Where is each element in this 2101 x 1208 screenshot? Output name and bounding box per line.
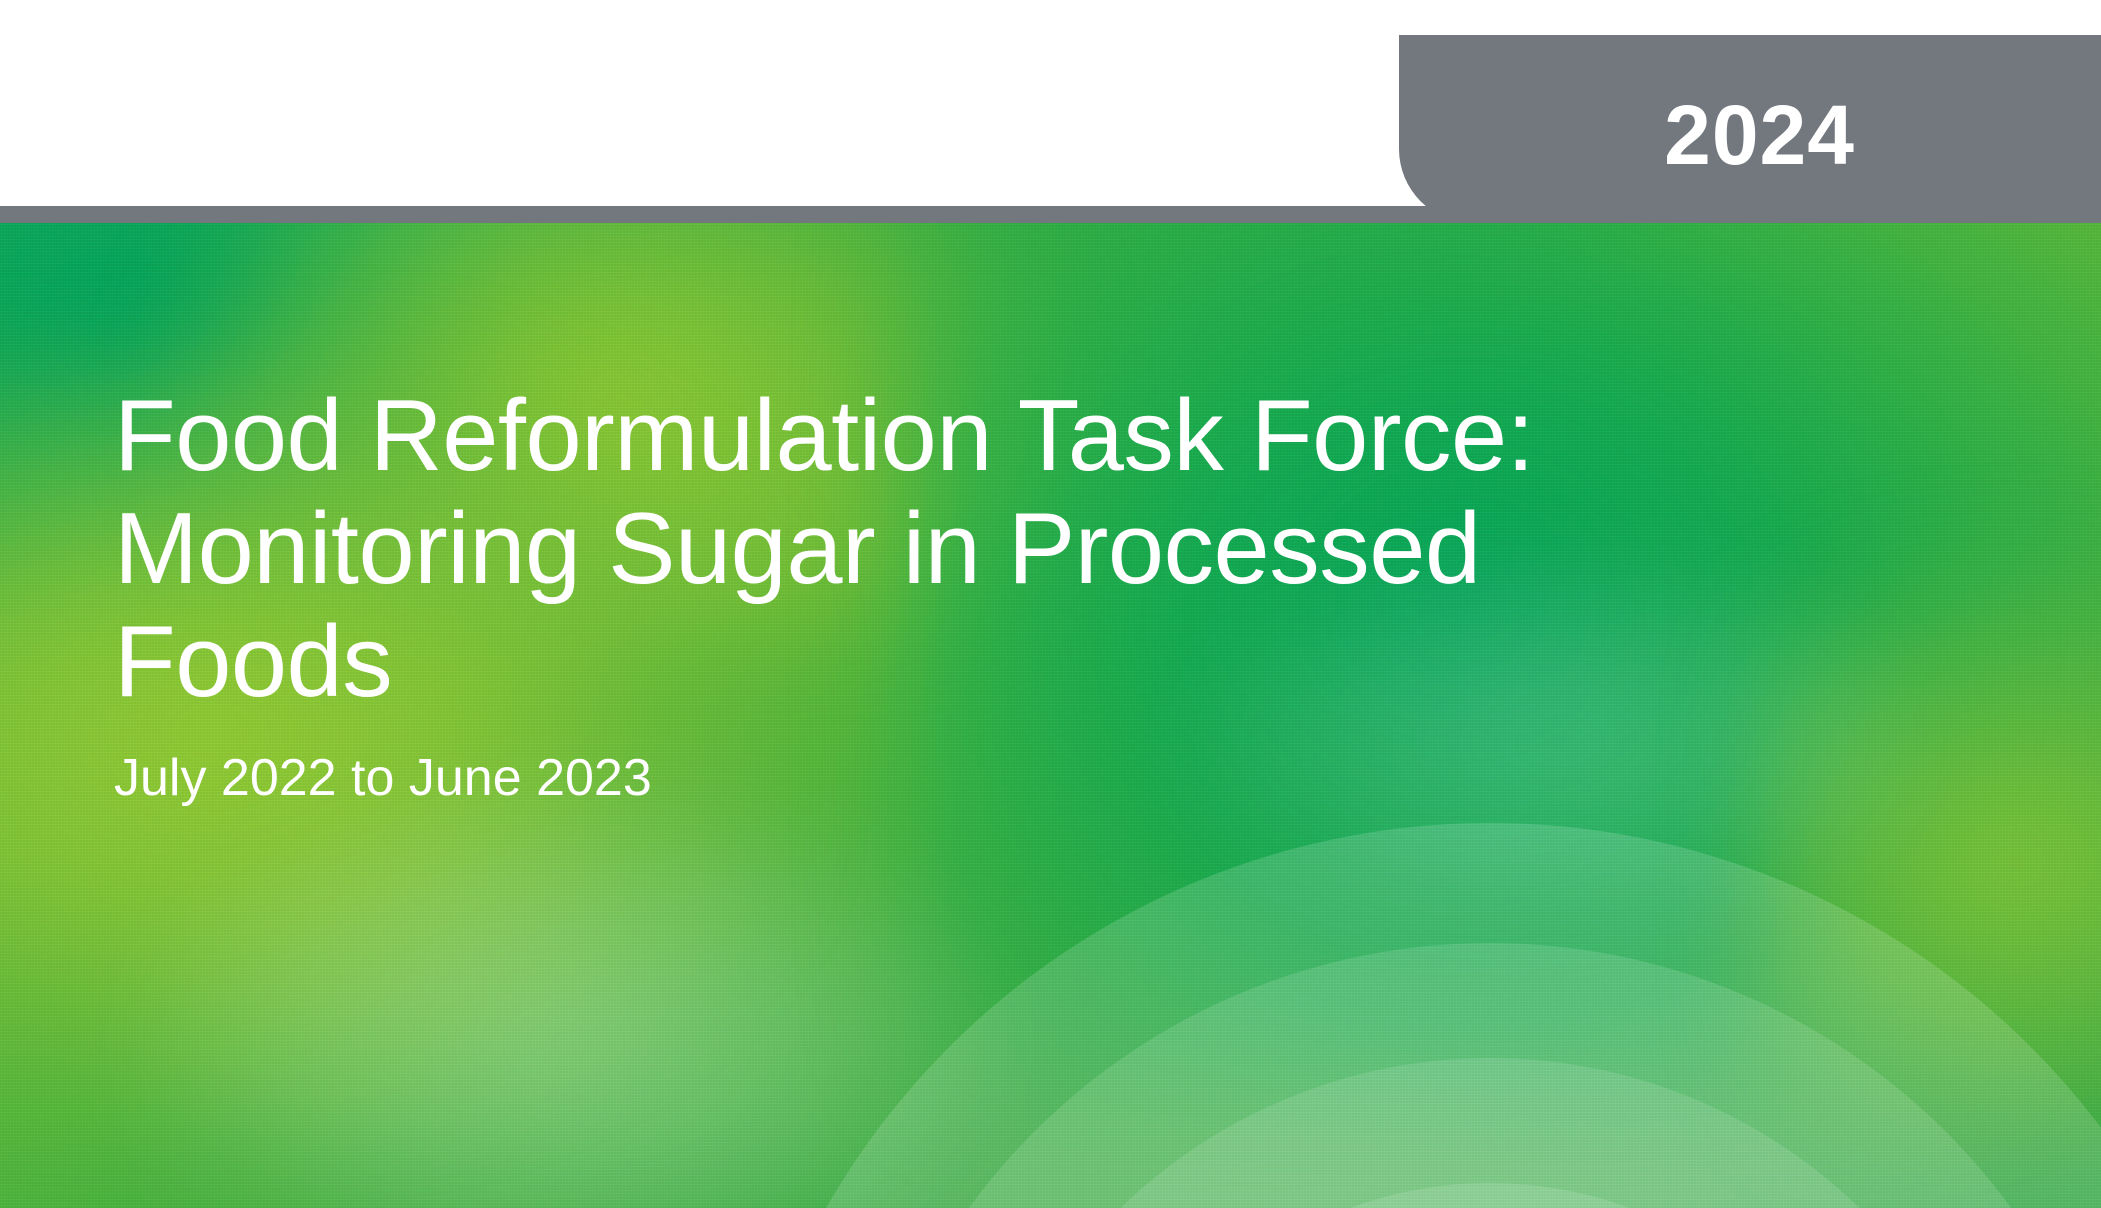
page-title: Food Reformulation Task Force: Monitorin… <box>114 380 1564 719</box>
cover-hero-background: Food Reformulation Task Force: Monitorin… <box>0 223 2101 1208</box>
report-cover-slide: 2024 Food Reformulation Task Force: Moni… <box>0 0 2101 1208</box>
cover-title-block: Food Reformulation Task Force: Monitorin… <box>114 380 1564 810</box>
cover-header: 2024 <box>0 0 2101 223</box>
hero-haze-lower-left <box>120 783 1020 1208</box>
year-badge-block: 2024 <box>1399 35 2101 223</box>
page-subtitle: July 2022 to June 2023 <box>114 747 1564 809</box>
title-line-1: Food Reformulation Task Force: <box>114 380 1534 492</box>
title-line-2: Monitoring Sugar in Processed <box>114 493 1481 605</box>
title-line-3: Foods <box>114 606 392 718</box>
year-badge-label: 2024 <box>1664 93 1855 177</box>
